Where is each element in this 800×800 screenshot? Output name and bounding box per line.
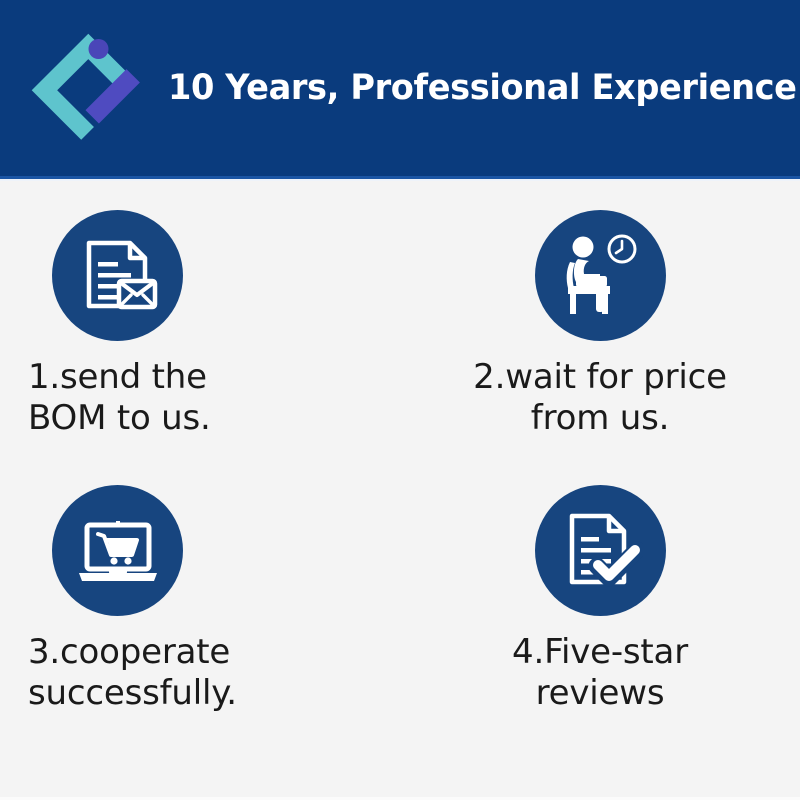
step-label-line: 1.send the — [28, 357, 400, 398]
page-title: 10 Years, Professional Experience — [168, 71, 797, 106]
steps-grid: 1.send the BOM to us. — [0, 181, 800, 800]
step-label-line: from us. — [428, 398, 772, 439]
step-item-4: 4.Five-star reviews — [400, 465, 800, 749]
step-label-line: successfully. — [28, 673, 400, 714]
promo-banner: 10 Years, Professional Experience — [0, 0, 800, 800]
step-item-2: 2.wait for price from us. — [400, 181, 800, 465]
company-logo — [30, 29, 148, 147]
laptop-with-shopping-cart-icon — [52, 485, 183, 616]
step-label-line: 2.wait for price — [428, 357, 772, 398]
step-label-3: 3.cooperate successfully. — [28, 632, 400, 715]
step-label-line: BOM to us. — [28, 398, 400, 439]
document-with-envelope-icon — [52, 210, 183, 341]
step-label-line: 3.cooperate — [28, 632, 400, 673]
step-label-line: reviews — [428, 673, 772, 714]
person-sitting-with-clock-icon — [535, 210, 666, 341]
banner-header: 10 Years, Professional Experience — [0, 0, 800, 176]
step-label-1: 1.send the BOM to us. — [28, 357, 400, 440]
document-with-checkmark-icon — [535, 485, 666, 616]
step-label-2: 2.wait for price from us. — [400, 357, 800, 440]
step-label-line: 4.Five-star — [428, 632, 772, 673]
step-item-3: 3.cooperate successfully. — [0, 465, 400, 749]
step-item-1: 1.send the BOM to us. — [0, 181, 400, 465]
step-label-4: 4.Five-star reviews — [400, 632, 800, 715]
